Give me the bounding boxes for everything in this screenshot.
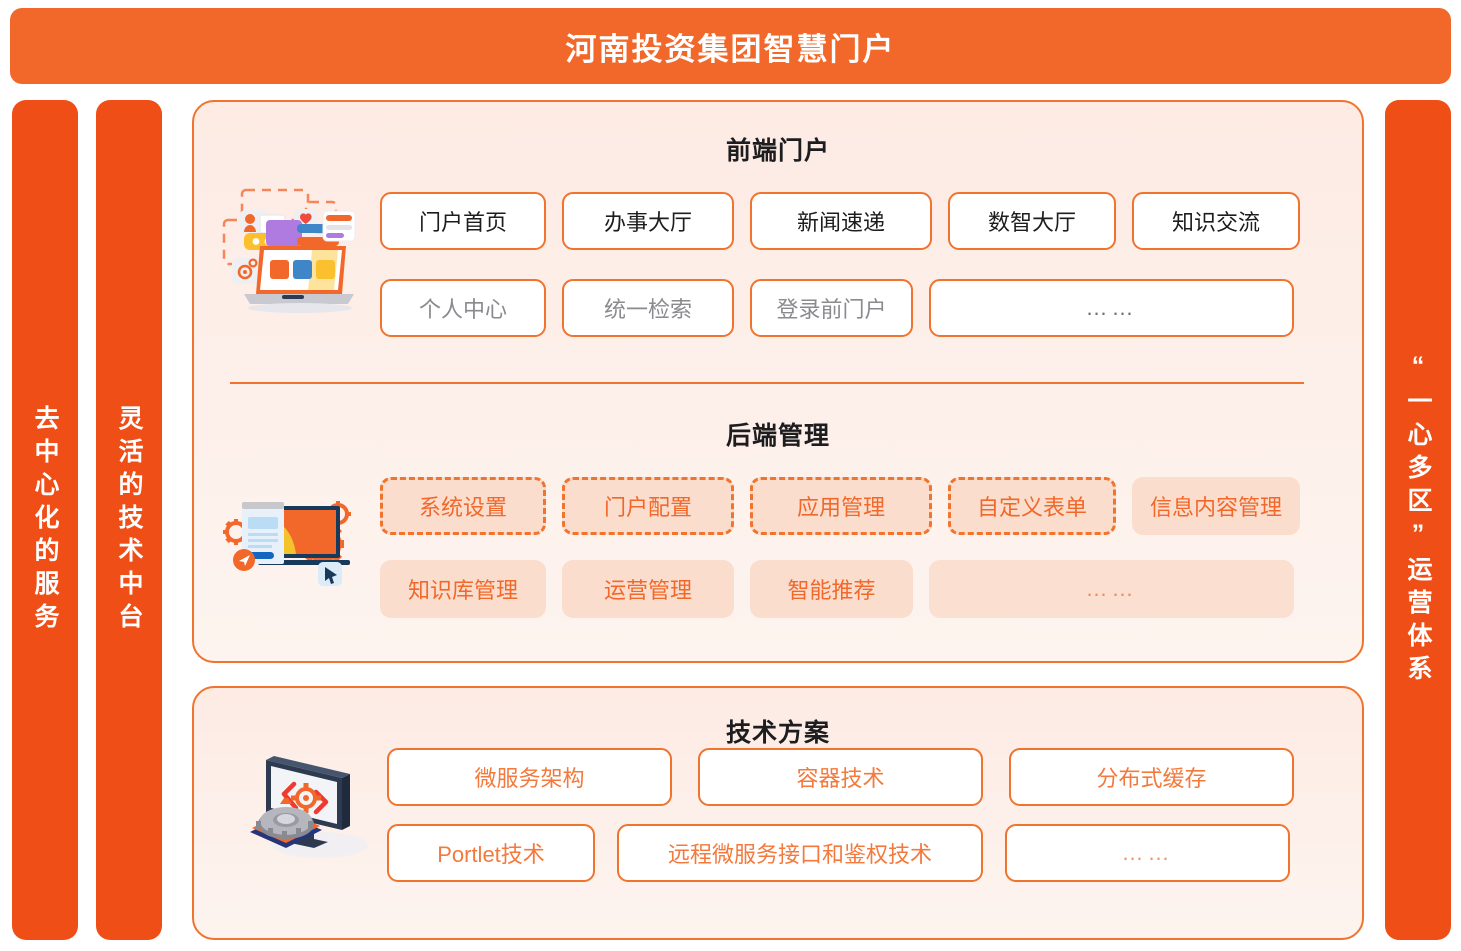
technical-row-2: Portlet技术 远程微服务接口和鉴权技术 …… [387,824,1290,882]
section-title-backend: 后端管理 [194,416,1362,452]
panel-portal-and-backend: 前端门户 [192,100,1364,663]
pillar-decentralized-services: 去中心化的服务 [12,100,78,940]
chip-news-express[interactable]: 新闻速递 [750,192,932,250]
frontend-row-2: 个人中心 统一检索 登录前门户 …… [380,279,1294,337]
chip-application-management[interactable]: 应用管理 [750,477,932,535]
backend-row-1: 系统设置 门户配置 应用管理 自定义表单 信息内容管理 [380,477,1300,535]
chip-personal-center[interactable]: 个人中心 [380,279,546,337]
web-portal-laptop-illustration [220,184,360,314]
chip-service-hall[interactable]: 办事大厅 [562,192,734,250]
chip-frontend-more[interactable]: …… [929,279,1294,337]
page-title: 河南投资集团智慧门户 [566,24,896,69]
section-divider [230,382,1304,384]
backend-row-2: 知识库管理 运营管理 智能推荐 …… [380,560,1294,618]
chip-operation-management[interactable]: 运营管理 [562,560,734,618]
chip-system-settings[interactable]: 系统设置 [380,477,546,535]
pillar-flexible-tech-midplatform: 灵活的技术中台 [96,100,162,940]
page-header: 河南投资集团智慧门户 [10,8,1451,84]
chip-digital-intelligence-hall[interactable]: 数智大厅 [948,192,1116,250]
panel-technical-solution: 技术方案 [192,686,1364,940]
chip-technical-more[interactable]: …… [1005,824,1290,882]
chip-container-technology[interactable]: 容器技术 [698,748,983,806]
isometric-monitor-code-gear-illustration [242,750,372,870]
pillar-left-2-label: 灵活的技术中台 [115,405,143,636]
chip-portal-home[interactable]: 门户首页 [380,192,546,250]
chip-custom-form[interactable]: 自定义表单 [948,477,1116,535]
technical-row-1: 微服务架构 容器技术 分布式缓存 [387,748,1294,806]
chip-distributed-cache[interactable]: 分布式缓存 [1009,748,1294,806]
chip-smart-recommendation[interactable]: 智能推荐 [750,560,913,618]
document-monitor-gears-illustration [220,484,360,594]
chip-portlet-technology[interactable]: Portlet技术 [387,824,595,882]
chip-knowledge-base-management[interactable]: 知识库管理 [380,560,546,618]
infographic-page: 河南投资集团智慧门户 去中心化的服务 灵活的技术中台 “一心多区”运营体系 前端… [0,0,1461,951]
chip-remote-microservice-auth[interactable]: 远程微服务接口和鉴权技术 [617,824,983,882]
chip-knowledge-exchange[interactable]: 知识交流 [1132,192,1300,250]
chip-information-content-management[interactable]: 信息内容管理 [1132,477,1300,535]
section-title-frontend: 前端门户 [194,131,1362,167]
chip-portal-config[interactable]: 门户配置 [562,477,734,535]
chip-unified-search[interactable]: 统一检索 [562,279,734,337]
pillar-right-label: “一心多区”运营体系 [1404,352,1432,688]
pillar-left-1-label: 去中心化的服务 [31,405,59,636]
chip-pre-login-portal[interactable]: 登录前门户 [750,279,913,337]
frontend-row-1: 门户首页 办事大厅 新闻速递 数智大厅 知识交流 [380,192,1300,250]
pillar-one-core-multi-zone-operations: “一心多区”运营体系 [1385,100,1451,940]
chip-backend-more[interactable]: …… [929,560,1294,618]
section-title-technical: 技术方案 [194,713,1362,749]
chip-microservice-architecture[interactable]: 微服务架构 [387,748,672,806]
